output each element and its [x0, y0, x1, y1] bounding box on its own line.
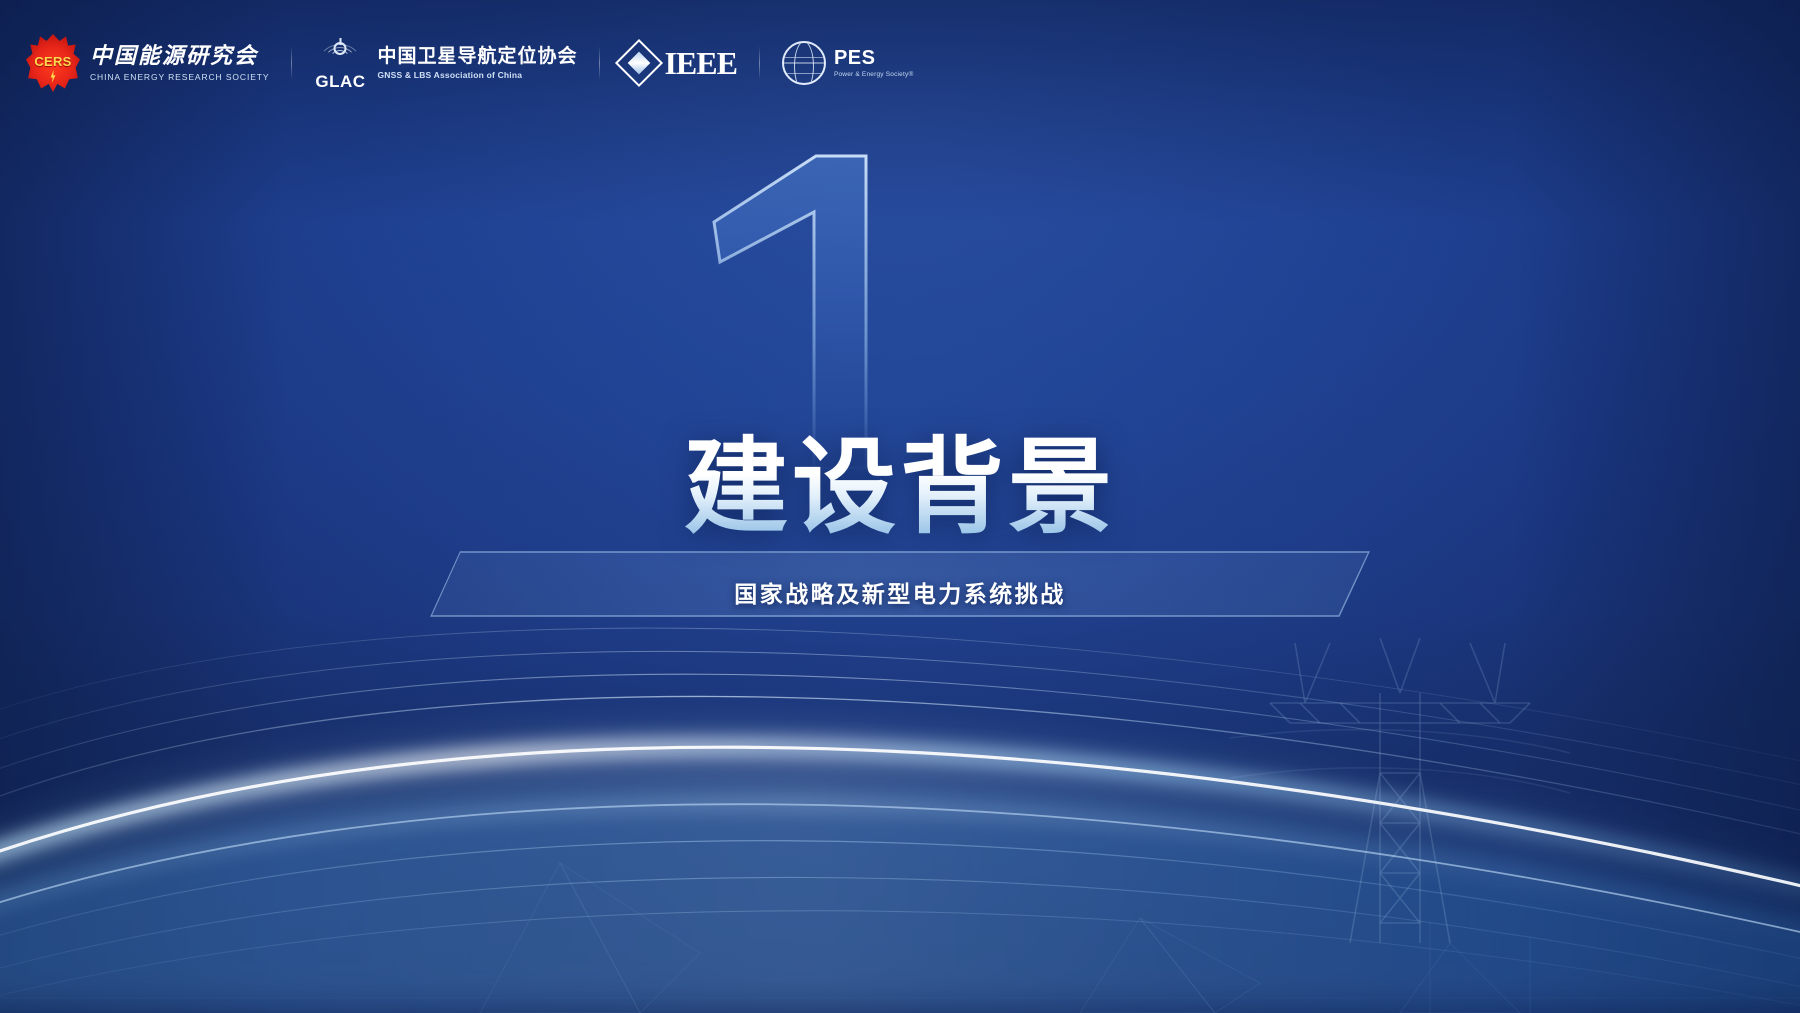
- globe-icon: [782, 41, 826, 85]
- transmission-tower-icon: [1230, 593, 1570, 953]
- partner-logo-bar: CERS 中国能源研究会 CHINA ENERGY RESEARCH SOCIE…: [26, 34, 913, 92]
- logo-divider: [599, 46, 600, 80]
- glac-name-cn: 中国卫星导航定位协会: [377, 46, 577, 68]
- glac-name-en: GNSS & LBS Association of China: [377, 70, 577, 80]
- cers-name-en: CHINA ENERGY RESEARCH SOCIETY: [90, 72, 269, 82]
- page-subtitle: 国家战略及新型电力系统挑战: [0, 575, 1800, 609]
- logo-divider: [759, 46, 760, 80]
- cers-mark-label: CERS: [34, 54, 71, 69]
- cers-name-cn: 中国能源研究会: [90, 44, 269, 68]
- pes-abbr: PES: [834, 48, 913, 68]
- logo-ieee: IEEE: [622, 45, 736, 82]
- glac-satellite-icon: GLAC: [314, 36, 366, 90]
- pes-tagline: Power & Energy Society®: [834, 71, 913, 78]
- page-title: 建设背景: [684, 432, 1116, 542]
- slide-root: CERS 中国能源研究会 CHINA ENERGY RESEARCH SOCIE…: [0, 0, 1800, 1013]
- logo-ieee-pes: PES Power & Energy Society®: [782, 41, 913, 85]
- glac-abbr-label: GLAC: [315, 72, 365, 92]
- cers-flame-icon: CERS: [26, 34, 80, 92]
- ieee-diamond-icon: [615, 39, 663, 87]
- logo-glac: GLAC 中国卫星导航定位协会 GNSS & LBS Association o…: [314, 36, 577, 90]
- logo-divider: [291, 46, 292, 80]
- title-block: 建设背景: [0, 432, 1800, 542]
- logo-cers: CERS 中国能源研究会 CHINA ENERGY RESEARCH SOCIE…: [26, 34, 269, 92]
- section-number-icon: [690, 150, 890, 470]
- ieee-name: IEEE: [664, 45, 736, 82]
